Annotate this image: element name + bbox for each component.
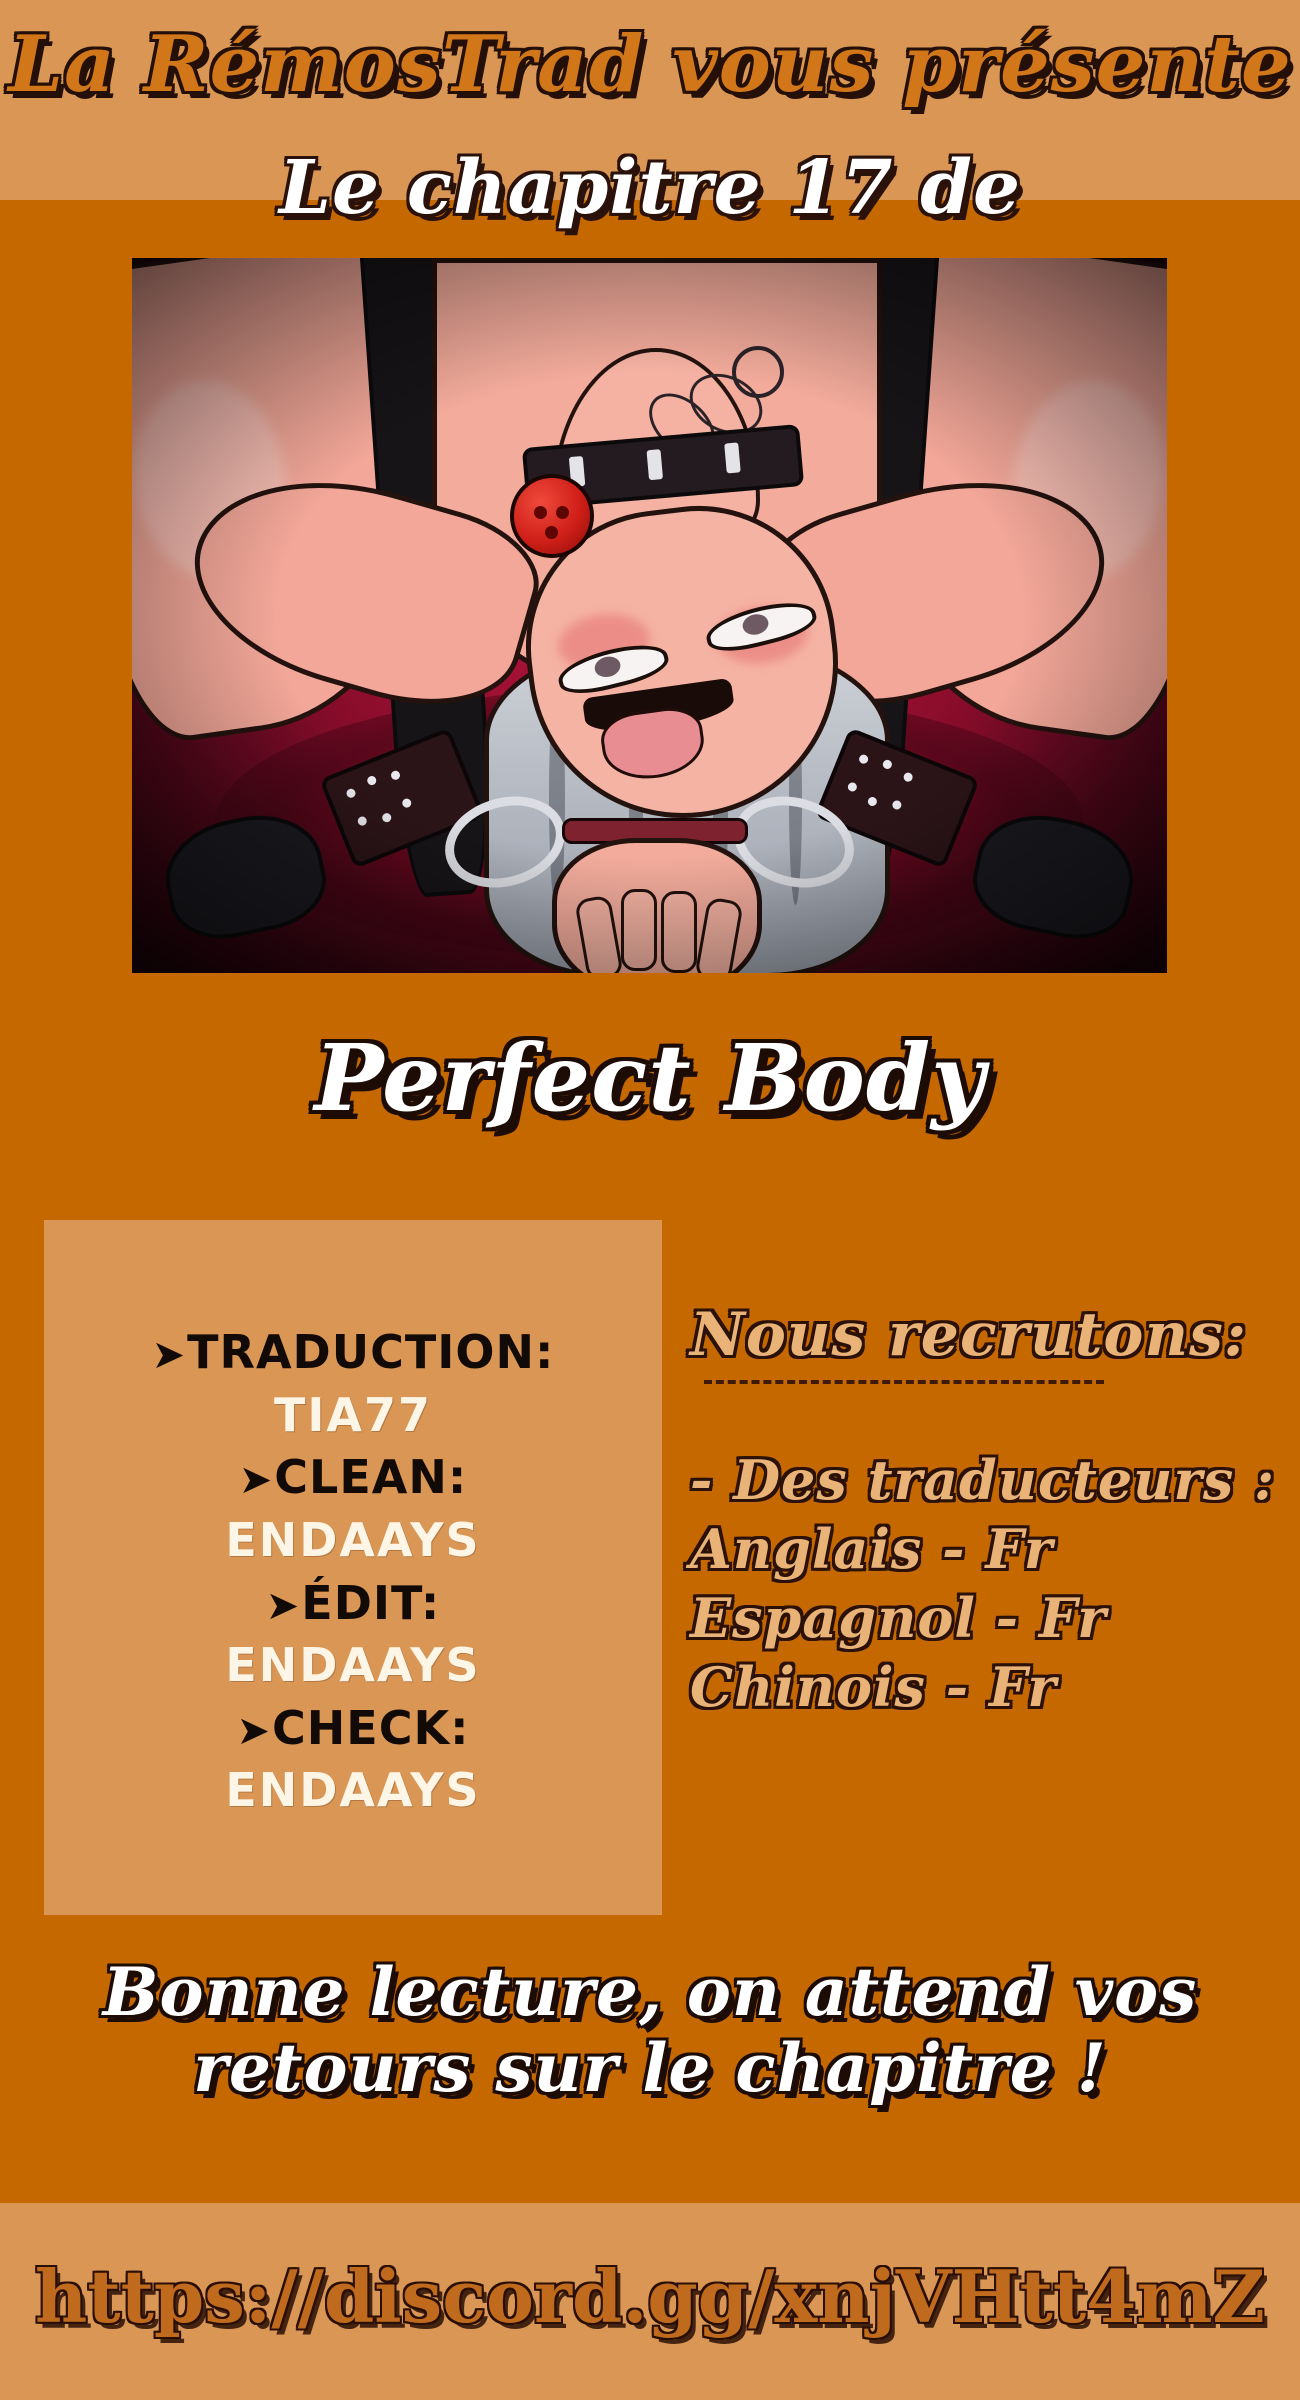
discord-invite-link[interactable]: https://discord.gg/xnjVHtt4mZ xyxy=(0,2254,1300,2339)
bullet-arrow-icon: ➤ xyxy=(237,1708,271,1754)
studio-title: La RémosTrad vous présente xyxy=(0,24,1300,106)
recruitment-item-anglais: Anglais - Fr xyxy=(690,1515,1250,1584)
credit-name-traduction: TIA77 xyxy=(274,1384,432,1447)
preview-vignette xyxy=(132,258,1167,973)
credit-name-clean: ENDAAYS xyxy=(225,1509,480,1572)
bullet-arrow-icon: ➤ xyxy=(152,1332,186,1378)
recruitment-item-chinois: Chinois - Fr xyxy=(690,1653,1250,1722)
credit-role-check: ➤CHECK: xyxy=(237,1697,470,1760)
credit-role-clean: ➤CLEAN: xyxy=(239,1446,468,1509)
closing-line-2: retours sur le chapitre ! xyxy=(0,2031,1300,2107)
recruitment-section: Nous recrutons: - Des traducteurs : Angl… xyxy=(690,1300,1250,1722)
credits-box: ➤TRADUCTION: TIA77 ➤CLEAN: ENDAAYS ➤ÉDIT… xyxy=(44,1220,662,1915)
closing-line-1: Bonne lecture, on attend vos xyxy=(0,1955,1300,2031)
chapter-preview-image xyxy=(132,258,1167,973)
credit-name-edit: ENDAAYS xyxy=(225,1634,480,1697)
credit-role-label: CHECK: xyxy=(272,1701,469,1755)
recruitment-list: - Des traducteurs : Anglais - Fr Espagno… xyxy=(690,1446,1250,1722)
release-announcement-page: La RémosTrad vous présente Le chapitre 1… xyxy=(0,0,1300,2400)
recruitment-title: Nous recrutons: xyxy=(690,1300,1250,1370)
closing-message: Bonne lecture, on attend vos retours sur… xyxy=(0,1955,1300,2107)
series-title: Perfect Body xyxy=(0,1030,1300,1127)
credit-role-label: ÉDIT: xyxy=(301,1576,440,1630)
recruitment-heading: - Des traducteurs : xyxy=(690,1446,1250,1515)
credit-role-label: TRADUCTION: xyxy=(187,1325,554,1379)
recruitment-underline xyxy=(704,1380,1104,1384)
bullet-arrow-icon: ➤ xyxy=(266,1583,300,1629)
credit-name-check: ENDAAYS xyxy=(225,1759,480,1822)
recruitment-item-espagnol: Espagnol - Fr xyxy=(690,1584,1250,1653)
credit-role-edit: ➤ÉDIT: xyxy=(266,1572,441,1635)
bullet-arrow-icon: ➤ xyxy=(239,1457,273,1503)
credit-role-label: CLEAN: xyxy=(274,1450,467,1504)
credit-role-traduction: ➤TRADUCTION: xyxy=(152,1321,555,1384)
chapter-line: Le chapitre 17 de xyxy=(0,150,1300,228)
